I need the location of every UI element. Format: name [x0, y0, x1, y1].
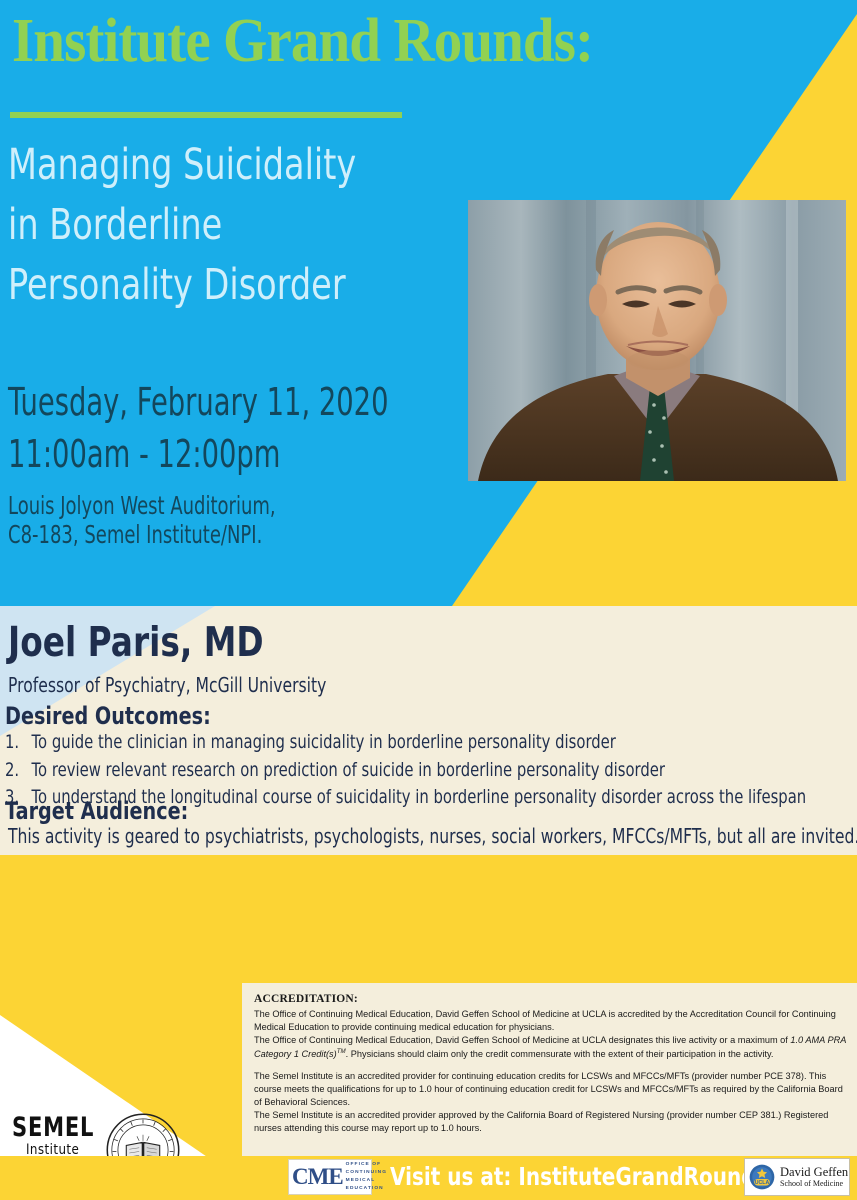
trademark-superscript: TM: [337, 1048, 346, 1055]
accreditation-paragraph-3: The Semel Institute is an accredited pro…: [254, 1070, 847, 1109]
speaker-affiliation: Professor of Psychiatry, McGill Universi…: [8, 673, 326, 697]
accreditation-p2-pre: The Office of Continuing Medical Educati…: [254, 1035, 790, 1045]
accreditation-p2-post: . Physicians should claim only the credi…: [346, 1049, 774, 1059]
speaker-photo-graphic: [468, 200, 846, 481]
list-item: 1. To guide the clinician in managing su…: [5, 729, 832, 757]
accreditation-heading: ACCREDITATION:: [254, 991, 847, 1007]
target-audience-heading: Target Audience:: [5, 797, 188, 825]
cme-subtitle-line-3: MEDICAL: [346, 1177, 387, 1185]
cme-wordmark: CME: [292, 1164, 343, 1190]
speaker-photo: [468, 200, 846, 481]
list-item-text: To guide the clinician in managing suici…: [32, 729, 616, 757]
list-item-number: 1.: [5, 729, 32, 757]
desired-outcomes-heading: Desired Outcomes:: [5, 702, 211, 730]
accreditation-paragraph-1: The Office of Continuing Medical Educati…: [254, 1008, 847, 1034]
semel-wordmark: SEMEL: [12, 1112, 94, 1143]
venue-line-2: C8-183, Semel Institute/NPI.: [8, 519, 262, 552]
paragraph-spacer: [254, 1061, 847, 1070]
page-title: Institute Grand Rounds:: [12, 10, 593, 72]
target-audience-text: This activity is geared to psychiatrists…: [8, 824, 857, 848]
speaker-name: Joel Paris, MD: [8, 618, 264, 666]
accreditation-paragraph-2: The Office of Continuing Medical Educati…: [254, 1034, 847, 1060]
poster-canvas: Institute Grand Rounds: Managing Suicida…: [0, 0, 857, 1200]
list-item-number: 2.: [5, 757, 32, 785]
event-date: Tuesday, February 11, 2020: [8, 378, 388, 427]
list-item-text: To review relevant research on predictio…: [32, 757, 665, 785]
cme-logo: CME OFFICE OF CONTINUING MEDICAL EDUCATI…: [288, 1159, 372, 1195]
geffen-text-block: David Geffen School of Medicine: [780, 1166, 848, 1188]
cme-subtitle-line-1: OFFICE OF: [346, 1161, 387, 1169]
cme-subtitle-line-4: EDUCATION: [346, 1185, 387, 1193]
accreditation-paragraph-4: The Semel Institute is an accredited pro…: [254, 1109, 847, 1135]
title-underline-rule: [10, 112, 402, 118]
ucla-seal-icon: UCLA: [749, 1164, 775, 1190]
cme-subtitle: OFFICE OF CONTINUING MEDICAL EDUCATION: [346, 1161, 387, 1192]
geffen-name: David Geffen: [780, 1166, 848, 1179]
cme-subtitle-line-2: CONTINUING: [346, 1169, 387, 1177]
geffen-school: School of Medicine: [780, 1179, 848, 1188]
svg-text:UCLA: UCLA: [755, 1180, 770, 1186]
talk-title: Managing Suicidality in Borderline Perso…: [8, 135, 375, 316]
venue-line-1: Louis Jolyon West Auditorium,: [8, 490, 276, 523]
event-time: 11:00am - 12:00pm: [8, 430, 280, 479]
accreditation-box: ACCREDITATION: The Office of Continuing …: [242, 983, 857, 1156]
david-geffen-logo: UCLA David Geffen School of Medicine: [744, 1158, 850, 1196]
list-item: 2. To review relevant research on predic…: [5, 757, 832, 785]
